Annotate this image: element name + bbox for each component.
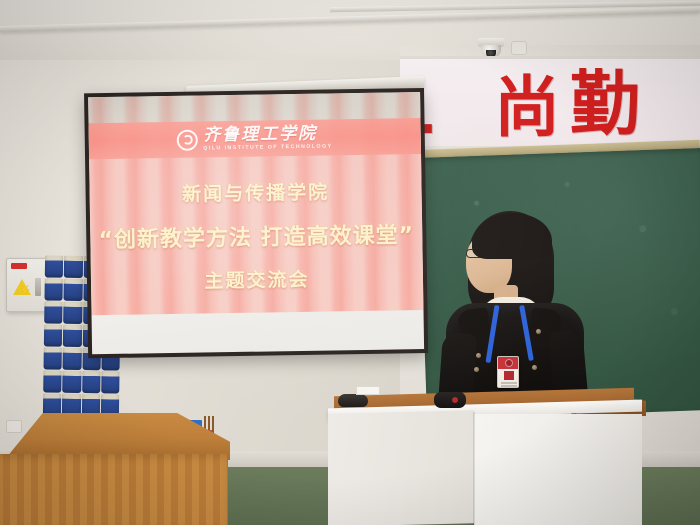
wooden-lectern [0, 412, 230, 525]
classroom-photo: L 尚 勤 ⚡ [0, 0, 700, 525]
slide-line-theme: “创新教学方法 打造高效课堂” [98, 217, 414, 254]
projection-screen: 齐鲁理工学院 QILU INSTITUTE OF TECHNOLOGY 新闻与传… [84, 88, 428, 358]
slide-line-event: 主题交流会 [204, 265, 309, 294]
wall-banner-char-1: 尚 [494, 75, 560, 141]
slide-body: 新闻与传播学院 “创新教学方法 打造高效课堂” 主题交流会 [89, 158, 423, 315]
organizer-pocket [44, 324, 63, 346]
electrical-panel[interactable]: ⚡ [6, 258, 48, 312]
id-badge-line [501, 382, 517, 384]
black-device[interactable] [434, 392, 466, 408]
organizer-pocket [101, 371, 120, 393]
wall-banner-char-2: 勤 [570, 69, 640, 139]
wall-banner-characters: L 尚 勤 [400, 59, 700, 146]
lectern-body [0, 454, 228, 525]
organizer-row [43, 370, 119, 393]
panel-switch[interactable] [35, 278, 41, 296]
coat-button [532, 365, 537, 370]
university-logo-text: 齐鲁理工学院 QILU INSTITUTE OF TECHNOLOGY [203, 125, 333, 151]
ceiling-access-plate [511, 41, 527, 55]
hazard-bolt-glyph: ⚡ [20, 286, 31, 295]
slide-line-department: 新闻与传播学院 [182, 178, 329, 207]
coat-button [476, 353, 481, 358]
speaker [432, 205, 602, 420]
organizer-pocket [64, 279, 83, 301]
podium-corner-edge [473, 412, 475, 525]
projection-screen-surface: 齐鲁理工学院 QILU INSTITUTE OF TECHNOLOGY 新闻与传… [88, 92, 424, 354]
podium-front-right [474, 414, 642, 525]
organizer-pocket [44, 301, 63, 323]
organizer-pocket [63, 348, 82, 370]
coat-button [536, 329, 541, 334]
organizer-pocket [82, 371, 101, 393]
university-logo: 齐鲁理工学院 QILU INSTITUTE OF TECHNOLOGY [89, 120, 421, 157]
presentation-slide: 齐鲁理工学院 QILU INSTITUTE OF TECHNOLOGY 新闻与传… [88, 92, 423, 315]
organizer-pocket [44, 278, 63, 300]
university-name-cn: 齐鲁理工学院 [203, 125, 333, 144]
id-badge-line [501, 385, 517, 387]
panel-red-label [11, 263, 27, 269]
spiral-logo-icon [177, 129, 198, 150]
coat-button [474, 367, 479, 372]
university-name-en: QILU INSTITUTE OF TECHNOLOGY [203, 144, 332, 151]
organizer-pocket [43, 370, 62, 392]
computer-mouse-icon[interactable] [338, 394, 368, 407]
organizer-pocket [64, 256, 83, 278]
white-podium [328, 392, 642, 525]
organizer-pocket [45, 255, 64, 277]
id-badge [497, 356, 519, 388]
lectern-top [0, 412, 230, 460]
organizer-pocket [44, 347, 63, 369]
podium-front-left [328, 410, 474, 525]
wall-banner: L 尚 勤 [400, 56, 700, 146]
organizer-pocket [63, 325, 82, 347]
organizer-pocket [63, 302, 82, 324]
id-badge-glyph [504, 371, 514, 380]
organizer-pocket [62, 371, 81, 393]
device-indicator-light [452, 397, 458, 403]
id-badge-seal-icon [505, 359, 513, 367]
paper-slip [356, 386, 380, 395]
